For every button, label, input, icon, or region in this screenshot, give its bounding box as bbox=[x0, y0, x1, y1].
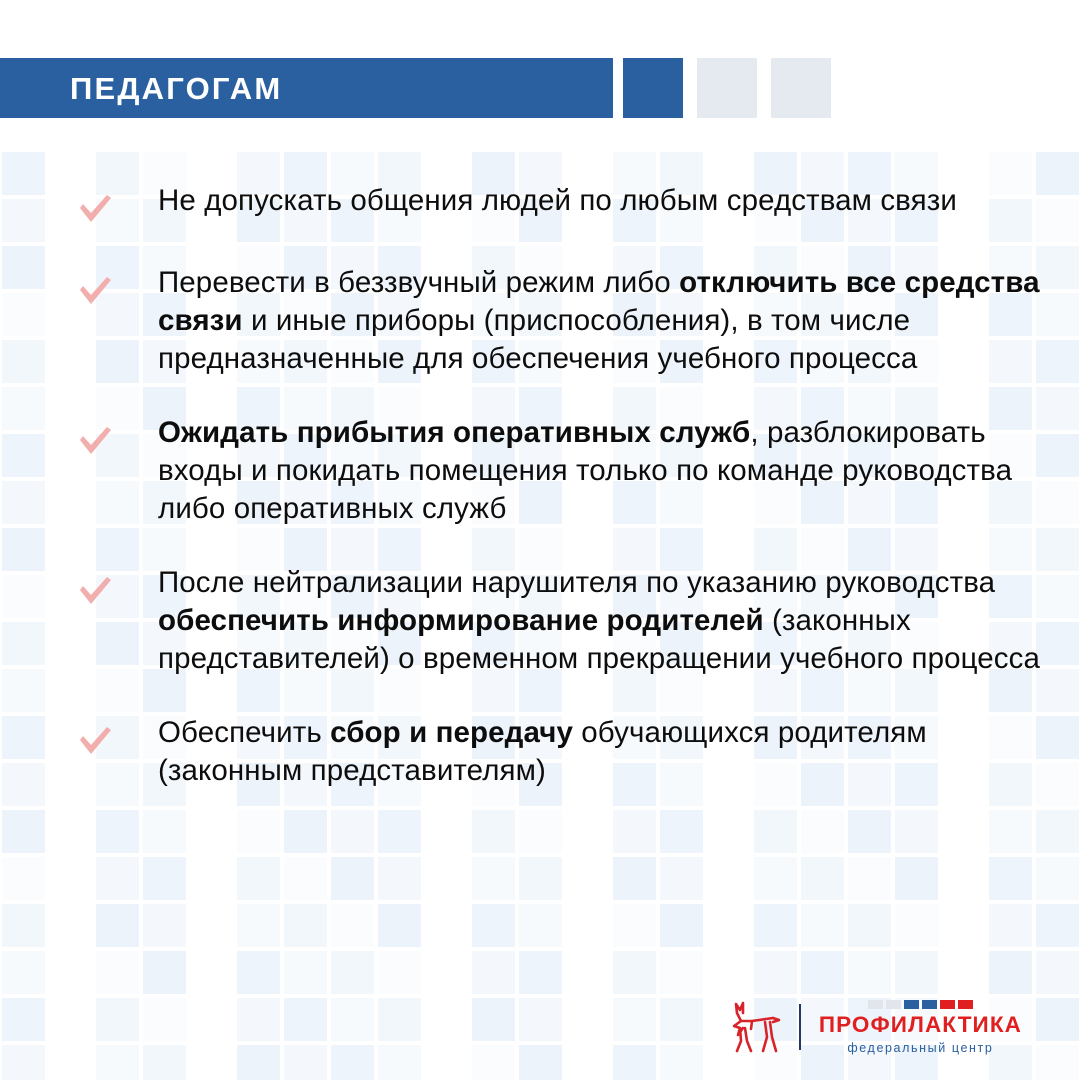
header-square-gray-2 bbox=[771, 58, 831, 118]
check-icon bbox=[78, 426, 112, 456]
list-item-text: После нейтрализации нарушителя по указан… bbox=[158, 564, 1058, 678]
deer-icon bbox=[727, 1001, 783, 1053]
header-gap bbox=[757, 58, 771, 118]
logo-color-block-4 bbox=[922, 1000, 937, 1009]
emphasis-text: Ожидать прибытия оперативных служб bbox=[158, 416, 750, 449]
page-title: ПЕДАГОГАМ bbox=[70, 73, 282, 104]
logo-subtitle: федеральный центр bbox=[847, 1042, 993, 1055]
header-square-gray-1 bbox=[697, 58, 757, 118]
list-item: Не допускать общения людей по любым сред… bbox=[78, 182, 1058, 224]
logo-name: ПРОФИЛАКТИКА bbox=[819, 1014, 1022, 1037]
body-text: После нейтрализации нарушителя по указан… bbox=[158, 566, 995, 599]
header-square-blue bbox=[623, 58, 683, 118]
logo-color-block-3 bbox=[904, 1000, 919, 1009]
header-gap bbox=[613, 58, 623, 118]
organization-logo: ПРОФИЛАКТИКА федеральный центр bbox=[727, 996, 1022, 1058]
body-text: Не допускать общения людей по любым сред… bbox=[158, 184, 957, 217]
logo-divider bbox=[799, 1004, 801, 1050]
header-banner: ПЕДАГОГАМ bbox=[0, 58, 613, 118]
check-icon bbox=[78, 194, 112, 224]
logo-color-block-2 bbox=[886, 1000, 901, 1009]
check-icon bbox=[78, 276, 112, 306]
recommendation-list: Не допускать общения людей по любым сред… bbox=[78, 182, 1058, 791]
emphasis-text: обеспечить информирование родителей bbox=[158, 604, 764, 637]
list-item: После нейтрализации нарушителя по указан… bbox=[78, 564, 1058, 678]
header-bar: ПЕДАГОГАМ bbox=[0, 58, 1080, 118]
body-text: Перевести в беззвучный режим либо bbox=[158, 266, 679, 299]
header-gap bbox=[683, 58, 697, 118]
list-item: Ожидать прибытия оперативных служб, разб… bbox=[78, 414, 1058, 528]
body-text: и иные приборы (приспособления), в том ч… bbox=[158, 304, 917, 375]
logo-color-block-6 bbox=[958, 1000, 973, 1009]
check-icon bbox=[78, 576, 112, 606]
logo-color-block-1 bbox=[868, 1000, 883, 1009]
list-item-text: Перевести в беззвучный режим либо отключ… bbox=[158, 264, 1058, 378]
list-item-text: Обеспечить сбор и передачу обучающихся р… bbox=[158, 714, 1058, 790]
list-item-text: Не допускать общения людей по любым сред… bbox=[158, 182, 957, 220]
list-item-text: Ожидать прибытия оперативных служб, разб… bbox=[158, 414, 1058, 528]
emphasis-text: сбор и передачу bbox=[330, 716, 573, 749]
logo-color-block-5 bbox=[940, 1000, 955, 1009]
logo-color-blocks bbox=[868, 1000, 973, 1009]
list-item: Перевести в беззвучный режим либо отключ… bbox=[78, 264, 1058, 378]
list-item: Обеспечить сбор и передачу обучающихся р… bbox=[78, 714, 1058, 790]
check-icon bbox=[78, 726, 112, 756]
body-text: Обеспечить bbox=[158, 716, 330, 749]
logo-text-group: ПРОФИЛАКТИКА федеральный центр bbox=[819, 1000, 1022, 1054]
